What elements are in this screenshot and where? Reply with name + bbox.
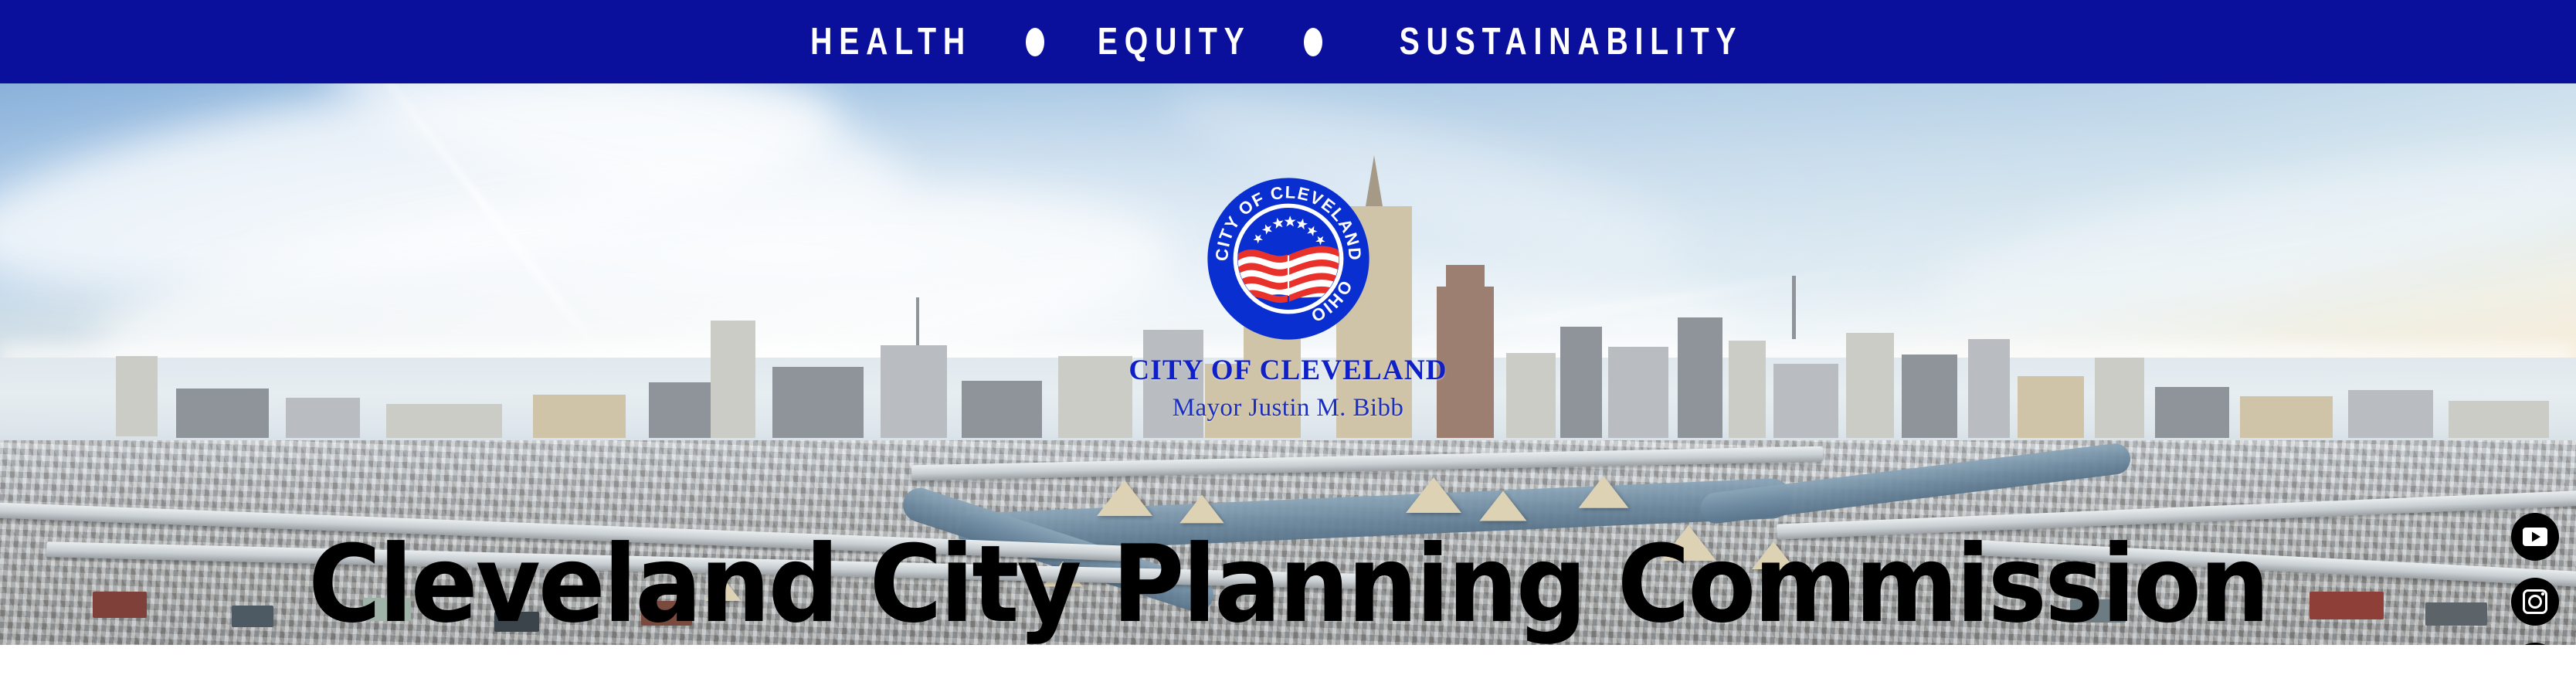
- tagline-banner: HEALTH EQUITY SUSTAINABILITY: [0, 0, 2576, 83]
- social-link-facebook[interactable]: [2511, 643, 2559, 645]
- instagram-icon: [2520, 586, 2551, 617]
- aggregate-pile: [1179, 495, 1224, 524]
- tagline-word-health: HEALTH: [810, 23, 972, 61]
- aggregate-pile: [1479, 490, 1526, 521]
- tagline-word-sustainability: SUSTAINABILITY: [1400, 23, 1743, 61]
- tagline-word-equity: EQUITY: [1098, 23, 1251, 61]
- aggregate-pile: [1097, 480, 1152, 516]
- logo-city-name: CITY OF CLEVELAND: [1088, 354, 1489, 387]
- youtube-icon: [2520, 521, 2551, 552]
- logo-mayor-name: Mayor Justin M. Bibb: [1088, 394, 1489, 422]
- social-link-instagram[interactable]: [2511, 578, 2559, 626]
- tagline-separator-dot-2: [1304, 28, 1322, 56]
- hero-photo: CITY OF CLEVELAND OHIO: [0, 83, 2576, 645]
- social-links: [2511, 513, 2559, 645]
- social-link-youtube[interactable]: [2511, 513, 2559, 561]
- bottom-white-strip: [0, 645, 2576, 682]
- aggregate-pile: [1406, 477, 1461, 513]
- tagline-separator-dot-1: [1026, 28, 1044, 56]
- page-root: HEALTH EQUITY SUSTAINABILITY: [0, 0, 2576, 682]
- aggregate-pile: [1579, 476, 1629, 507]
- city-logo-block[interactable]: CITY OF CLEVELAND OHIO: [1088, 175, 1489, 422]
- city-of-cleveland-seal-icon: CITY OF CLEVELAND OHIO: [1204, 175, 1373, 343]
- page-title: Cleveland City Planning Commission: [90, 531, 2486, 638]
- tagline-banner-inner: HEALTH EQUITY SUSTAINABILITY: [790, 23, 1786, 61]
